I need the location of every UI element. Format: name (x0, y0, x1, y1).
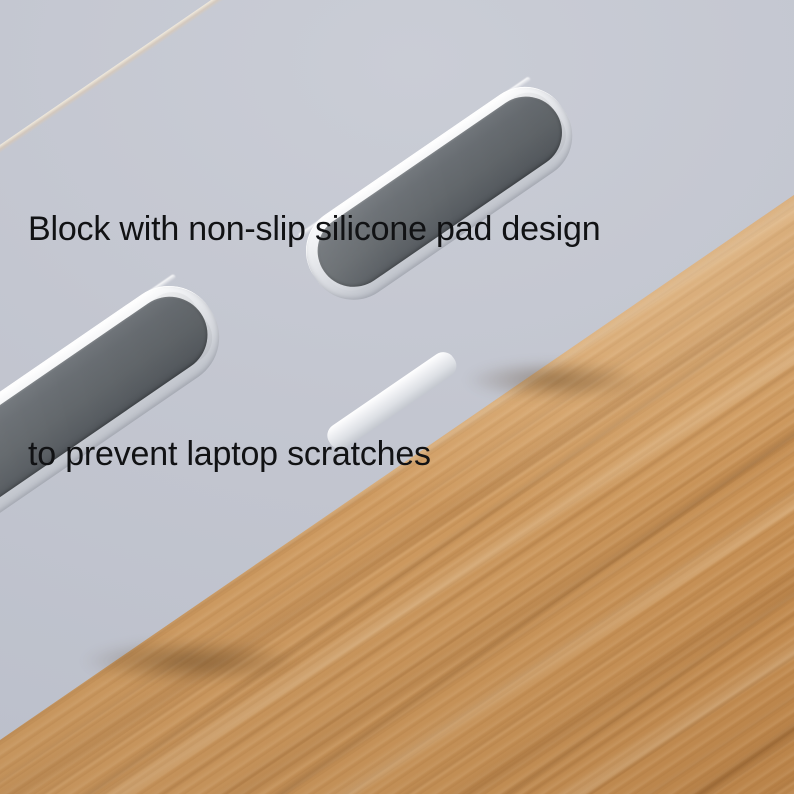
headline-text: Block with non-slip silicone pad design … (28, 42, 780, 642)
headline-line-2: to prevent laptop scratches (28, 417, 780, 492)
headline-line-1: Block with non-slip silicone pad design (28, 192, 780, 267)
product-feature-image: Block with non-slip silicone pad design … (0, 0, 794, 794)
